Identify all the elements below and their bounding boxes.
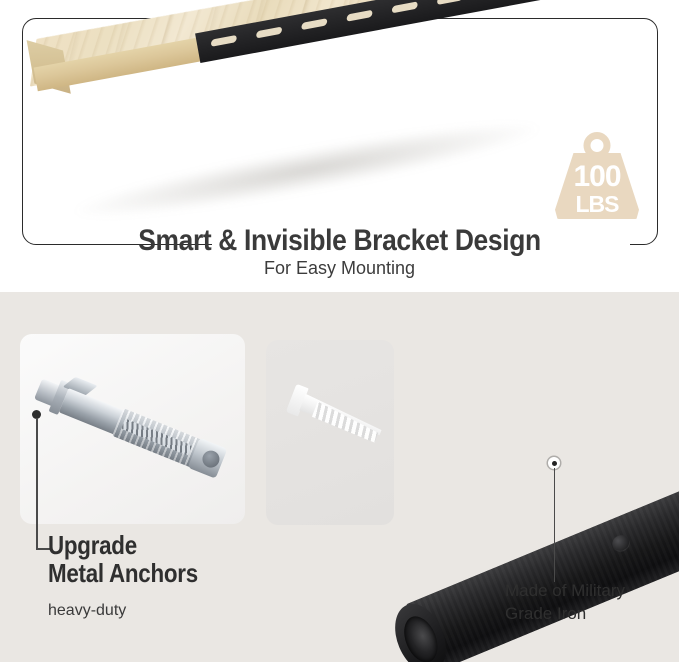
metal-anchors-title-line1: Upgrade bbox=[48, 530, 137, 560]
metal-anchors-title-line2: Metal Anchors bbox=[48, 558, 198, 588]
iron-rod-illustration bbox=[385, 452, 679, 662]
hero-subheadline: For Easy Mounting bbox=[0, 258, 679, 279]
floating-shelf-illustration bbox=[52, 10, 632, 225]
iron-callout-line1: Made of Military bbox=[505, 581, 625, 600]
hero-section: 100 LBS Smart & Invisible Bracket Design… bbox=[0, 0, 679, 292]
rod-body bbox=[405, 451, 679, 662]
bracket-slot bbox=[437, 0, 463, 5]
weight-capacity-badge: 100 LBS bbox=[551, 130, 643, 222]
features-section: VS Upgrade Metal Anchors heavy-duty Made… bbox=[0, 292, 679, 662]
plastic-anchor-ribs bbox=[311, 402, 381, 443]
callout-leader-line-vertical bbox=[36, 418, 38, 550]
weight-badge-number: 100 bbox=[551, 162, 643, 192]
bracket-slot bbox=[392, 1, 418, 13]
metal-anchors-subtitle: heavy-duty bbox=[48, 602, 126, 620]
metal-anchors-callout: Upgrade Metal Anchors heavy-duty bbox=[0, 292, 320, 662]
weight-badge-text: 100 LBS bbox=[551, 162, 643, 216]
bracket-slot bbox=[211, 35, 237, 47]
bracket-slot bbox=[346, 10, 372, 22]
iron-callout-label: Made of Military Grade Iron bbox=[505, 580, 679, 626]
iron-callout-line2: Grade Iron bbox=[505, 604, 586, 623]
iron-callout-leader-line bbox=[554, 468, 555, 582]
hero-headline: Smart & Invisible Bracket Design bbox=[41, 224, 639, 258]
bracket-slot bbox=[301, 18, 327, 30]
bracket-slot bbox=[256, 27, 282, 39]
weight-badge-unit: LBS bbox=[551, 193, 643, 216]
metal-anchors-title: Upgrade Metal Anchors bbox=[48, 532, 289, 588]
